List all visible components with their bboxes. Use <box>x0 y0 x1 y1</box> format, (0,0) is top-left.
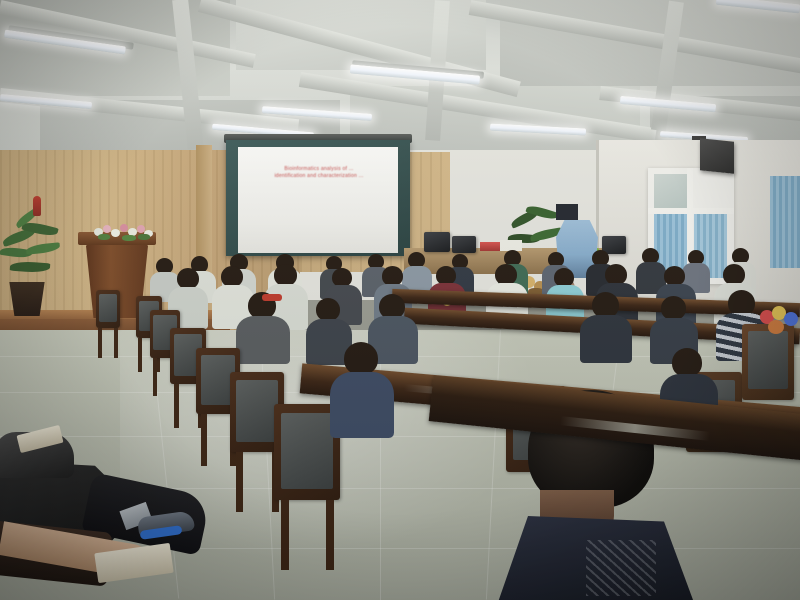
flower-arrangement <box>92 222 154 240</box>
red-flower <box>33 196 41 216</box>
presenter-trousers <box>556 204 578 220</box>
slide-line-2: identification and characterization ... <box>246 173 392 180</box>
window-pane <box>654 174 687 210</box>
window-mullion <box>648 208 734 214</box>
bag <box>760 306 800 340</box>
slide-line-1: Bioinformatics analysis of ... <box>246 166 392 173</box>
projection-screen <box>238 147 398 253</box>
curtain-far-right <box>770 176 800 268</box>
conference-room-photo: Bioinformatics analysis of ... identific… <box>0 0 800 600</box>
wall-speaker-icon <box>700 138 734 174</box>
slide-text: Bioinformatics analysis of ... identific… <box>246 166 392 196</box>
